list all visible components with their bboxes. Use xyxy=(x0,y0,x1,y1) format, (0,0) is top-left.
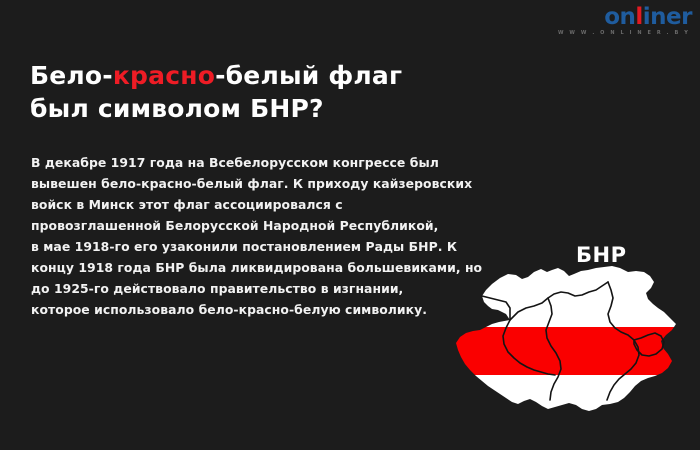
body-line: В декабре 1917 года на Всебелорусском ко… xyxy=(31,152,551,173)
flag-fill-group xyxy=(448,262,688,427)
page-title-segment-accent: красно xyxy=(113,61,215,90)
page-title: Бело-красно-белый флаг был символом БНР? xyxy=(30,59,460,125)
body-line: вывешен бело-красно-белый флаг. К приход… xyxy=(31,173,551,194)
belarus-map xyxy=(448,262,688,427)
infographic-canvas: onliner W W W . O N L I N E R . B Y Бело… xyxy=(0,0,700,450)
page-title-line-1: Бело-красно-белый флаг xyxy=(30,59,460,92)
page-title-segment-after: -белый флаг xyxy=(215,61,402,90)
body-line: в мае 1918-го его узаконили постановлени… xyxy=(31,236,551,257)
logo-wordmark: onliner xyxy=(558,6,692,29)
flag-stripe-white-bottom xyxy=(448,375,688,427)
logo-word-before: on xyxy=(604,4,635,30)
page-title-segment-before: Бело- xyxy=(30,61,113,90)
logo-word-after: iner xyxy=(643,4,692,30)
onliner-logo[interactable]: onliner W W W . O N L I N E R . B Y xyxy=(558,6,692,36)
belarus-map-icon xyxy=(448,262,688,427)
logo-accent-letter: l xyxy=(635,4,642,30)
body-line: провозглашенной Белорусской Народной Рес… xyxy=(31,215,551,236)
page-title-line-2: был символом БНР? xyxy=(30,92,460,125)
logo-website-url: W W W . O N L I N E R . B Y xyxy=(558,31,690,36)
body-line: войск в Минск этот флаг ассоциировался с xyxy=(31,194,551,215)
flag-stripe-white-top xyxy=(448,262,688,327)
